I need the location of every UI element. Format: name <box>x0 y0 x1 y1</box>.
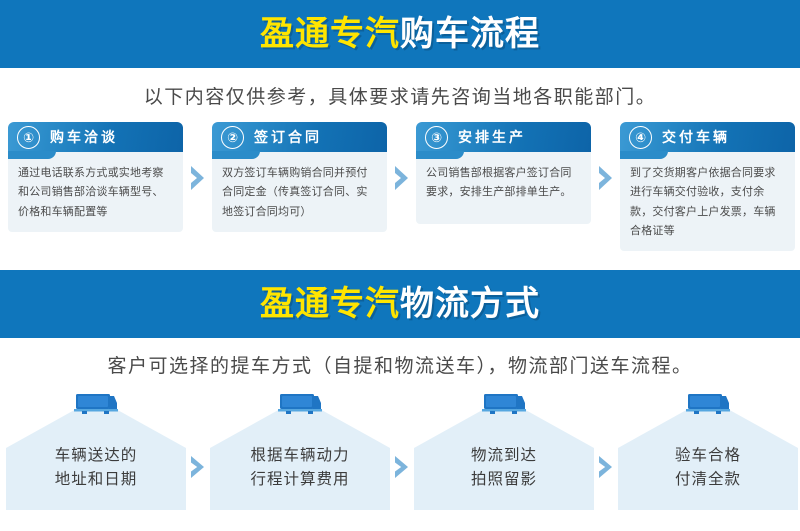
logistics-step-line2-1: 地址和日期 <box>55 468 138 492</box>
purchase-banner-title: 盈通专汽购车流程 <box>260 17 540 51</box>
purchase-step-body-2: 双方签订车辆购销合同并预付合同定金（传真签订合同、实地签订合同均可） <box>212 152 387 232</box>
purchase-step-body-4: 到了交货期客户依据合同要求进行车辆交付验收，支付余款，交付客户上户发票，车辆合格… <box>620 152 795 251</box>
purchase-step-header-4: ④ 交付车辆 <box>620 122 795 152</box>
purchase-step-body-1: 通过电话联系方式或实地考察和公司销售部洽谈车辆型号、价格和车辆配置等 <box>8 152 183 232</box>
purchase-step-header-1: ① 购车洽谈 <box>8 122 183 152</box>
logistics-subtitle: 客户可选择的提车方式（自提和物流送车），物流部门送车流程。 <box>107 351 692 378</box>
purchase-step-row: ① 购车洽谈 通过电话联系方式或实地考察和公司销售部洽谈车辆型号、价格和车辆配置… <box>0 122 800 234</box>
logistics-step-line1-3: 物流到达 <box>471 444 537 468</box>
step-title-3: 安排生产 <box>458 127 526 147</box>
purchase-step-body-3: 公司销售部根据客户签订合同要求，安排生产部排单生产。 <box>416 152 591 224</box>
logistics-step-line2-4: 付清全款 <box>675 468 741 492</box>
chevron-right-icon <box>387 122 416 234</box>
logistics-step-shape-4: 验车合格 付清全款 <box>618 410 798 510</box>
truck-icon <box>685 390 731 416</box>
logistics-banner-brand: 盈通专汽 <box>260 285 400 323</box>
purchase-banner-brand: 盈通专汽 <box>260 15 400 53</box>
logistics-step-card-1[interactable]: 车辆送达的 地址和日期 <box>6 390 186 510</box>
logistics-banner: 盈通专汽物流方式 <box>0 270 800 338</box>
chevron-right-icon <box>390 390 414 510</box>
purchase-step-header-2: ② 签订合同 <box>212 122 387 152</box>
logistics-step-card-4[interactable]: 验车合格 付清全款 <box>618 390 798 510</box>
purchase-step-card-2[interactable]: ② 签订合同 双方签订车辆购销合同并预付合同定金（传真签订合同、实地签订合同均可… <box>212 122 387 232</box>
purchase-step-card-3[interactable]: ③ 安排生产 公司销售部根据客户签订合同要求，安排生产部排单生产。 <box>416 122 591 224</box>
truck-icon <box>277 390 323 416</box>
step-title-1: 购车洽谈 <box>50 127 118 147</box>
logistics-step-line1-2: 根据车辆动力 <box>250 444 349 468</box>
logistics-step-shape-1: 车辆送达的 地址和日期 <box>6 410 186 510</box>
logistics-step-line1-1: 车辆送达的 <box>55 444 138 468</box>
logistics-subtitle-wrap: 客户可选择的提车方式（自提和物流送车），物流部门送车流程。 <box>0 338 800 390</box>
step-number-badge-4: ④ <box>629 126 652 149</box>
purchase-subtitle-wrap: 以下内容仅供参考，具体要求请先咨询当地各职能部门。 <box>0 68 800 122</box>
chevron-right-icon <box>186 390 210 510</box>
logistics-step-card-2[interactable]: 根据车辆动力 行程计算费用 <box>210 390 390 510</box>
logistics-step-line1-4: 验车合格 <box>675 444 741 468</box>
logistics-step-card-3[interactable]: 物流到达 拍照留影 <box>414 390 594 510</box>
truck-icon <box>73 390 119 416</box>
logistics-banner-rest: 物流方式 <box>400 285 540 323</box>
truck-icon <box>481 390 527 416</box>
step-number-badge-1: ① <box>17 126 40 149</box>
purchase-subtitle: 以下内容仅供参考，具体要求请先咨询当地各职能部门。 <box>144 82 657 109</box>
purchase-banner-rest: 购车流程 <box>400 15 540 53</box>
logistics-banner-title: 盈通专汽物流方式 <box>260 287 540 321</box>
purchase-banner: 盈通专汽购车流程 <box>0 0 800 68</box>
purchase-step-card-4[interactable]: ④ 交付车辆 到了交货期客户依据合同要求进行车辆交付验收，支付余款，交付客户上户… <box>620 122 795 251</box>
logistics-step-shape-2: 根据车辆动力 行程计算费用 <box>210 410 390 510</box>
step-title-2: 签订合同 <box>254 127 322 147</box>
logistics-step-line2-2: 行程计算费用 <box>250 468 349 492</box>
purchase-step-header-3: ③ 安排生产 <box>416 122 591 152</box>
step-number-badge-2: ② <box>221 126 244 149</box>
chevron-right-icon <box>183 122 212 234</box>
logistics-step-shape-3: 物流到达 拍照留影 <box>414 410 594 510</box>
chevron-right-icon <box>591 122 620 234</box>
step-title-4: 交付车辆 <box>662 127 730 147</box>
logistics-step-row: 车辆送达的 地址和日期 根据车辆动力 行程计算费用 <box>0 390 800 510</box>
step-description-2: 双方签订车辆购销合同并预付合同定金（传真签订合同、实地签订合同均可） <box>222 164 377 222</box>
step-description-1: 通过电话联系方式或实地考察和公司销售部洽谈车辆型号、价格和车辆配置等 <box>18 164 173 222</box>
step-number-badge-3: ③ <box>425 126 448 149</box>
step-description-4: 到了交货期客户依据合同要求进行车辆交付验收，支付余款，交付客户上户发票，车辆合格… <box>630 164 785 241</box>
logistics-step-line2-3: 拍照留影 <box>471 468 537 492</box>
chevron-right-icon <box>594 390 618 510</box>
purchase-step-card-1[interactable]: ① 购车洽谈 通过电话联系方式或实地考察和公司销售部洽谈车辆型号、价格和车辆配置… <box>8 122 183 232</box>
step-description-3: 公司销售部根据客户签订合同要求，安排生产部排单生产。 <box>426 164 581 203</box>
